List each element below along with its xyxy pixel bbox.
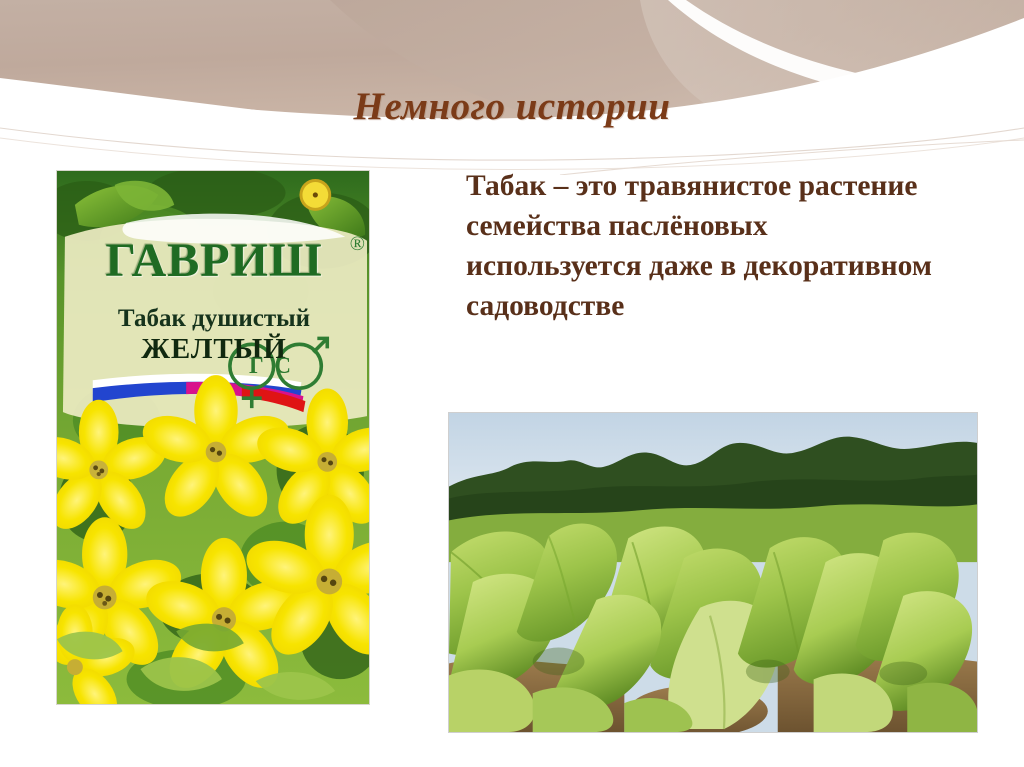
presentation-slide: Немного истории Табак – это травянистое …: [0, 0, 1024, 767]
seed-packet-label: ГАВРИШ ® Табак душистый ЖЕЛТЫЙ: [57, 201, 370, 396]
gs-certification-label: ГС: [249, 353, 302, 379]
seed-packet-brand: ГАВРИШ: [57, 233, 370, 288]
seed-packet-variety: ЖЕЛТЫЙ: [57, 333, 370, 366]
seed-packet-product-line: Табак душистый: [57, 305, 370, 333]
page-title: Немного истории: [0, 84, 1024, 129]
body-paragraph: Табак – это травянистое растение семейст…: [466, 166, 944, 326]
registered-trademark-icon: ®: [350, 233, 365, 256]
seed-packet-image: ГАВРИШ ® Табак душистый ЖЕЛТЫЙ ГС: [56, 170, 370, 705]
tobacco-field-photo: [448, 412, 978, 733]
